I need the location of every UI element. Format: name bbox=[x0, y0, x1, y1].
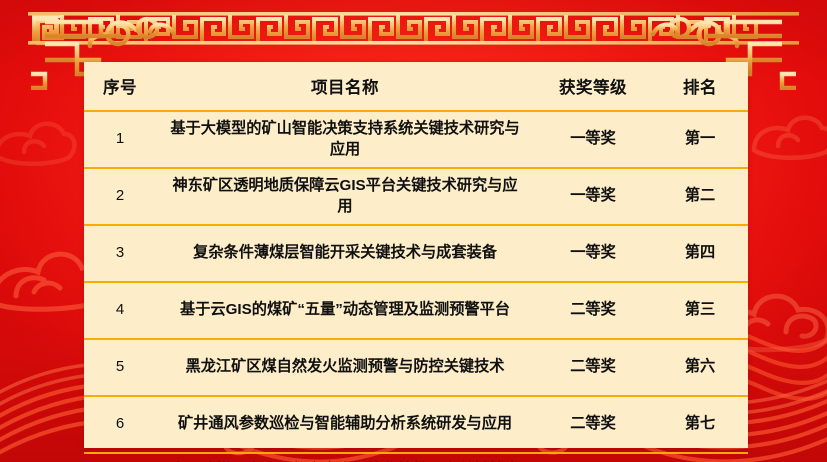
cell-rank: 第二 bbox=[652, 168, 748, 225]
table-body: 1 基于大模型的矿山智能决策支持系统关键技术研究与应用 一等奖 第一 2 神东矿… bbox=[84, 111, 748, 462]
cell-rank: 第六 bbox=[652, 339, 748, 396]
table-row: 7 太原选煤厂全流程数字孪生智能化管控平台关键技术研究与应用 三等奖 第二 bbox=[84, 453, 748, 462]
cell-index: 1 bbox=[84, 111, 156, 168]
cell-rank: 第二 bbox=[652, 453, 748, 462]
table-row: 4 基于云GIS的煤矿“五量”动态管理及监测预警平台 二等奖 第三 bbox=[84, 282, 748, 339]
cell-project-name: 复杂条件薄煤层智能开采关键技术与成套装备 bbox=[156, 225, 534, 282]
cell-project-name: 神东矿区透明地质保障云GIS平台关键技术研究与应用 bbox=[156, 168, 534, 225]
cell-award-grade: 二等奖 bbox=[534, 339, 652, 396]
cell-index: 5 bbox=[84, 339, 156, 396]
cell-project-name: 太原选煤厂全流程数字孪生智能化管控平台关键技术研究与应用 bbox=[156, 453, 534, 462]
table-row: 2 神东矿区透明地质保障云GIS平台关键技术研究与应用 一等奖 第二 bbox=[84, 168, 748, 225]
cell-project-name: 基于大模型的矿山智能决策支持系统关键技术研究与应用 bbox=[156, 111, 534, 168]
cell-award-grade: 二等奖 bbox=[534, 282, 652, 339]
cell-rank: 第一 bbox=[652, 111, 748, 168]
auspicious-cloud bbox=[748, 92, 827, 170]
cell-rank: 第七 bbox=[652, 396, 748, 453]
column-header-grade: 获奖等级 bbox=[534, 62, 652, 111]
column-header-rank: 排名 bbox=[652, 62, 748, 111]
poster-canvas: 序号 项目名称 获奖等级 排名 1 基于大模型的矿山智能决策支持系统关键技术研究… bbox=[0, 0, 827, 462]
table-header-row: 序号 项目名称 获奖等级 排名 bbox=[84, 62, 748, 111]
cell-award-grade: 二等奖 bbox=[534, 396, 652, 453]
cell-index: 7 bbox=[84, 453, 156, 462]
auspicious-cloud bbox=[0, 96, 80, 176]
award-table-panel: 序号 项目名称 获奖等级 排名 1 基于大模型的矿山智能决策支持系统关键技术研究… bbox=[84, 62, 748, 448]
cell-project-name: 矿井通风参数巡检与智能辅助分析系统研发与应用 bbox=[156, 396, 534, 453]
cell-award-grade: 三等奖 bbox=[534, 453, 652, 462]
award-table: 序号 项目名称 获奖等级 排名 1 基于大模型的矿山智能决策支持系统关键技术研究… bbox=[84, 62, 748, 462]
cell-index: 3 bbox=[84, 225, 156, 282]
table-row: 5 黑龙江矿区煤自然发火监测预警与防控关键技术 二等奖 第六 bbox=[84, 339, 748, 396]
cell-award-grade: 一等奖 bbox=[534, 225, 652, 282]
cell-award-grade: 一等奖 bbox=[534, 111, 652, 168]
cell-index: 6 bbox=[84, 396, 156, 453]
cell-rank: 第四 bbox=[652, 225, 748, 282]
table-row: 6 矿井通风参数巡检与智能辅助分析系统研发与应用 二等奖 第七 bbox=[84, 396, 748, 453]
column-header-name: 项目名称 bbox=[156, 62, 534, 111]
cell-index: 2 bbox=[84, 168, 156, 225]
cell-project-name: 基于云GIS的煤矿“五量”动态管理及监测预警平台 bbox=[156, 282, 534, 339]
cell-project-name: 黑龙江矿区煤自然发火监测预警与防控关键技术 bbox=[156, 339, 534, 396]
cell-award-grade: 一等奖 bbox=[534, 168, 652, 225]
cell-rank: 第三 bbox=[652, 282, 748, 339]
table-header: 序号 项目名称 获奖等级 排名 bbox=[84, 62, 748, 111]
cell-index: 4 bbox=[84, 282, 156, 339]
column-header-index: 序号 bbox=[84, 62, 156, 111]
table-row: 3 复杂条件薄煤层智能开采关键技术与成套装备 一等奖 第四 bbox=[84, 225, 748, 282]
table-row: 1 基于大模型的矿山智能决策支持系统关键技术研究与应用 一等奖 第一 bbox=[84, 111, 748, 168]
